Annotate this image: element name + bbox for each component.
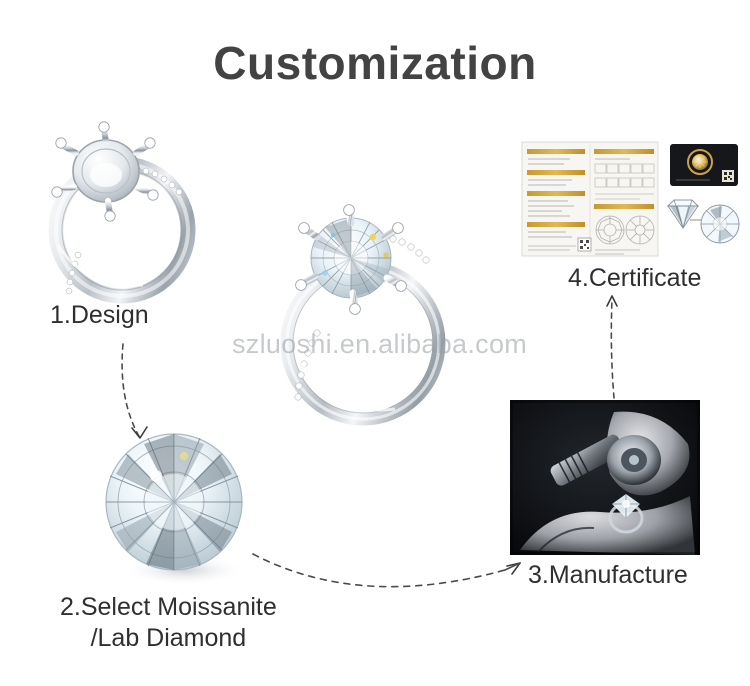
arrow-stone-to-manufacture	[253, 554, 520, 587]
clarity-plot-icon	[668, 200, 739, 243]
round-brilliant-diamond-icon	[88, 428, 268, 593]
certificate-image	[520, 138, 742, 260]
step-label-select-stone-line1: 2.Select Moissanite	[60, 593, 277, 621]
step-label-design: 1.Design	[50, 300, 149, 331]
grading-certificate-icon	[520, 138, 742, 260]
page-title: Customization	[0, 36, 750, 90]
solitaire-ring-image	[255, 185, 470, 450]
step-label-manufacture: 3.Manufacture	[528, 560, 688, 591]
ring-semi-mount-icon	[18, 95, 218, 305]
solitaire-ring-icon	[255, 185, 470, 450]
customization-infographic: Customization	[0, 0, 750, 686]
loose-diamond-image	[88, 428, 268, 593]
certificate-card-icon	[670, 144, 738, 186]
qr-code-icon	[578, 238, 591, 251]
jeweler-hands-photo-icon	[510, 400, 700, 555]
step-label-select-stone-line2: /Lab Diamond	[60, 623, 277, 654]
arrow-design-to-stone	[122, 344, 147, 438]
step-label-select-stone: 2.Select Moissanite /Lab Diamond	[60, 592, 277, 653]
step-label-certificate: 4.Certificate	[568, 263, 701, 294]
ring-semi-mount-image	[18, 95, 218, 305]
arrow-manufacture-to-certificate	[607, 296, 617, 398]
manufacture-photo	[510, 400, 700, 555]
